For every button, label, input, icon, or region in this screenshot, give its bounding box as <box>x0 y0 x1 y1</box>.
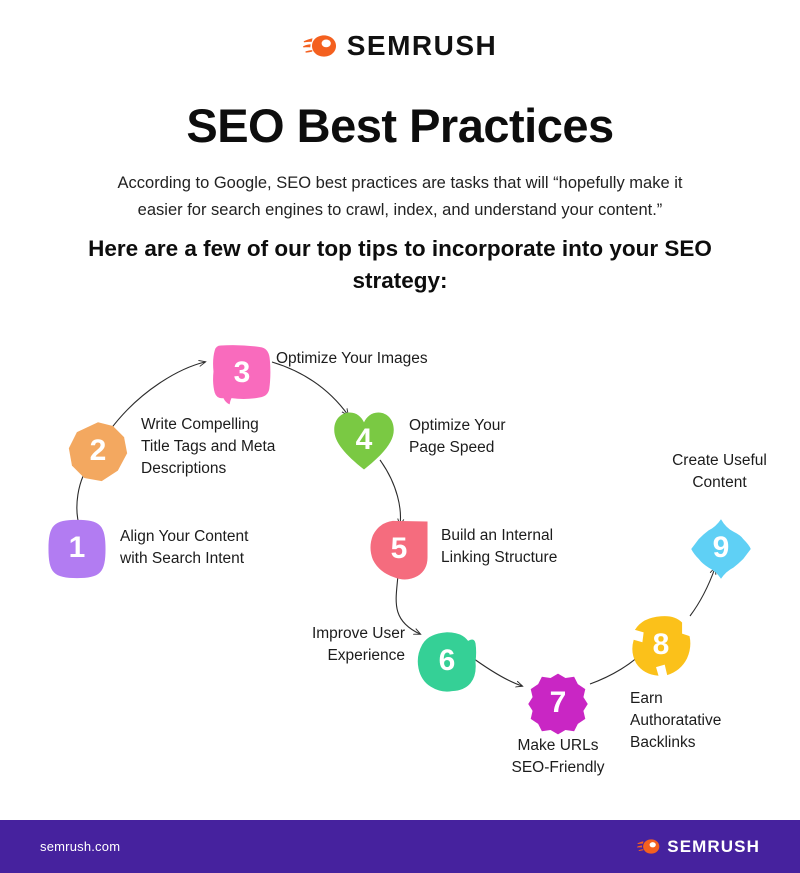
step-label-7: Make URLs SEO-Friendly <box>478 735 638 779</box>
step-number-4: 4 <box>356 425 373 455</box>
step-badge-8[interactable]: 8 <box>630 615 692 677</box>
subheading: Here are a few of our top tips to incorp… <box>80 233 720 297</box>
footer-url[interactable]: semrush.com <box>40 839 120 854</box>
step-number-8: 8 <box>653 630 670 660</box>
step-number-9: 9 <box>713 533 730 563</box>
step-label-5: Build an Internal Linking Structure <box>441 525 641 569</box>
step-number-6: 6 <box>439 646 456 676</box>
step-badge-2[interactable]: 2 <box>67 421 129 483</box>
step-number-7: 7 <box>550 688 567 718</box>
brand-logo: SEMRUSH <box>0 32 800 60</box>
brand-wordmark: SEMRUSH <box>347 32 498 60</box>
semrush-comet-icon <box>303 34 337 58</box>
step-badge-6[interactable]: 6 <box>416 631 478 693</box>
step-label-6: Improve User Experience <box>220 623 405 667</box>
step-label-8: Earn Authoratative Backlinks <box>630 688 800 754</box>
footer-wordmark: SEMRUSH <box>667 838 760 855</box>
step-number-2: 2 <box>90 436 107 466</box>
footer-brand-logo: SEMRUSH <box>637 838 760 855</box>
step-badge-4[interactable]: 4 <box>333 410 395 472</box>
step-badge-7[interactable]: 7 <box>527 673 589 735</box>
step-label-4: Optimize Your Page Speed <box>409 415 599 459</box>
page-title: SEO Best Practices <box>0 98 800 153</box>
step-label-3: Optimize Your Images <box>276 348 506 370</box>
step-flow-diagram: 1 Align Your Content with Search Intent … <box>0 320 800 820</box>
step-number-3: 3 <box>234 358 251 388</box>
infographic-page: SEMRUSH SEO Best Practices According to … <box>0 0 800 873</box>
step-badge-1[interactable]: 1 <box>46 518 108 580</box>
step-badge-5[interactable]: 5 <box>368 519 430 581</box>
semrush-comet-icon <box>637 838 660 855</box>
step-badge-9[interactable]: 9 <box>690 518 752 580</box>
step-number-1: 1 <box>69 533 86 563</box>
step-badge-3[interactable]: 3 <box>211 343 273 405</box>
step-number-5: 5 <box>391 534 408 564</box>
page-footer: semrush.com SEMRUSH <box>0 820 800 873</box>
step-label-1: Align Your Content with Search Intent <box>120 526 310 570</box>
step-label-2: Write Compelling Title Tags and Meta Des… <box>141 414 341 480</box>
step-label-9: Create Useful Content <box>632 450 800 494</box>
intro-paragraph: According to Google, SEO best practices … <box>100 170 700 223</box>
